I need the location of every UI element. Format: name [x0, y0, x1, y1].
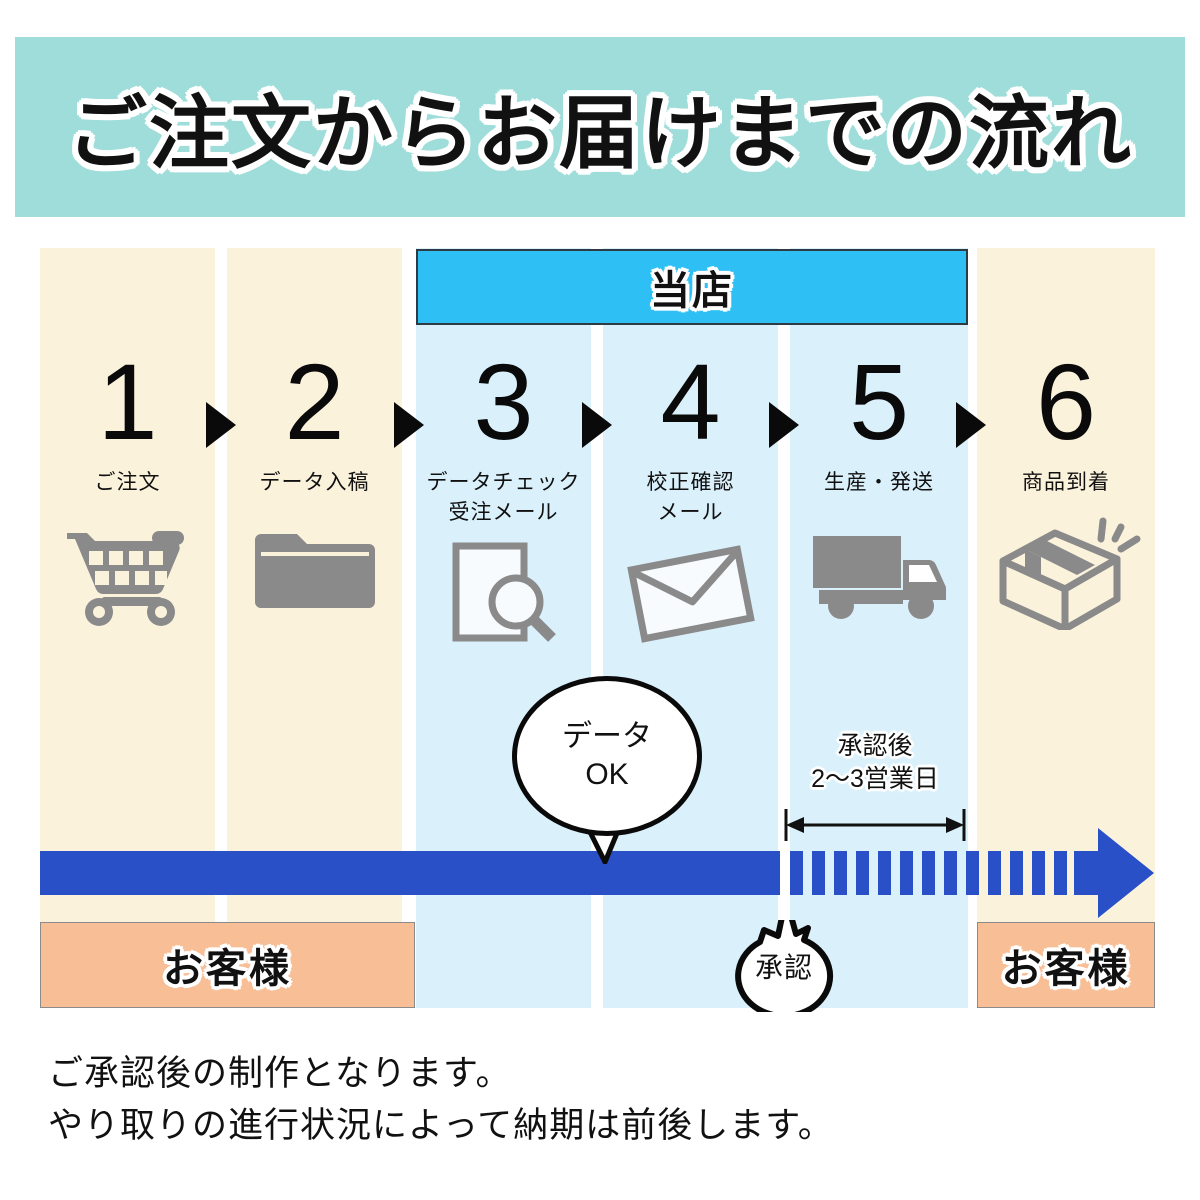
timeline-bar-dash: [944, 851, 957, 895]
step-arrow-4-5: [769, 402, 799, 448]
timeline-bar-dash: [878, 851, 891, 895]
customer-band-left-label: お客様: [163, 936, 292, 994]
data-ok-line1: データ: [562, 718, 652, 756]
step-5-label: 生産・発送: [790, 468, 968, 498]
page-title: ご注文からお届けまでの流れ: [15, 37, 1185, 217]
step-1-number: 1: [40, 348, 215, 456]
footer-note-line2: やり取りの進行状況によって納期は前後します。: [48, 1100, 1148, 1152]
timeline-bar-dash: [988, 851, 1001, 895]
timeline-arrow-stem: [1074, 851, 1098, 895]
vendor-banner-label: 当店: [650, 258, 734, 316]
step-3-label-line1: データチェック: [416, 468, 591, 498]
step-arrow-1-2: [206, 402, 236, 448]
step-arrow-5-6: [956, 402, 986, 448]
data-ok-line2: OK: [585, 756, 628, 794]
step-1: 1 ご注文: [40, 348, 215, 648]
timeline-bar-dash: [900, 851, 913, 895]
step-6: 6 商品到着: [977, 348, 1155, 648]
lead-time-line1: 承認後: [780, 730, 970, 763]
step-3: 3 データチェック 受注メール: [416, 348, 591, 648]
step-arrow-2-3: [394, 402, 424, 448]
customer-band-left: お客様: [40, 922, 415, 1008]
step-arrow-3-4: [582, 402, 612, 448]
step-2-number: 2: [227, 348, 402, 456]
timeline-bar-dash: [812, 851, 825, 895]
timeline-arrow-head: [1098, 828, 1154, 918]
step-6-label: 商品到着: [977, 468, 1155, 498]
timeline-bar-dash: [790, 851, 803, 895]
vendor-banner: 当店: [416, 249, 968, 325]
shopping-cart-icon: [40, 512, 215, 632]
step-3-number: 3: [416, 348, 591, 456]
step-2: 2 データ入稿: [227, 348, 402, 648]
approval-bubble-label: 承認: [724, 920, 844, 1012]
step-5: 5 生産・発送: [790, 348, 968, 648]
step-4-label-line1: 校正確認: [603, 468, 778, 498]
folder-icon: [227, 512, 402, 632]
step-5-number: 5: [790, 348, 968, 456]
lead-time-annotation: 承認後 2〜3営業日: [780, 730, 970, 796]
customer-band-right-label: お客様: [1002, 936, 1131, 994]
timeline-bar-dash: [1054, 851, 1067, 895]
timeline-bar-dash: [966, 851, 979, 895]
footer-notes: ご承認後の制作となります。 やり取りの進行状況によって納期は前後します。: [48, 1048, 1148, 1152]
step-2-label: データ入稿: [227, 468, 402, 498]
timeline-bar-dash: [1010, 851, 1023, 895]
timeline-bar-dash: [1032, 851, 1045, 895]
package-box-icon: [977, 512, 1155, 632]
customer-band-right: お客様: [977, 922, 1155, 1008]
timeline-bar-dash: [834, 851, 847, 895]
lead-time-measure-arrow: [782, 805, 968, 850]
step-4: 4 校正確認 メール: [603, 348, 778, 648]
envelope-icon: [603, 534, 778, 654]
lead-time-line2: 2〜3営業日: [780, 763, 970, 796]
step-1-label: ご注文: [40, 468, 215, 498]
step-6-number: 6: [977, 348, 1155, 456]
timeline-bar-dash: [922, 851, 935, 895]
document-search-icon: [416, 534, 591, 654]
step-3-label-line2: 受注メール: [416, 498, 591, 528]
timeline-bar-dash: [856, 851, 869, 895]
step-4-number: 4: [603, 348, 778, 456]
data-ok-bubble: データ OK: [512, 676, 702, 836]
step-4-label-line2: メール: [603, 498, 778, 528]
order-flow-diagram: ご注文からお届けまでの流れ 当店 1 ご注文: [0, 0, 1200, 1200]
footer-note-line1: ご承認後の制作となります。: [48, 1048, 1148, 1100]
timeline-bar-solid: [40, 851, 780, 895]
delivery-truck-icon: [790, 512, 968, 632]
